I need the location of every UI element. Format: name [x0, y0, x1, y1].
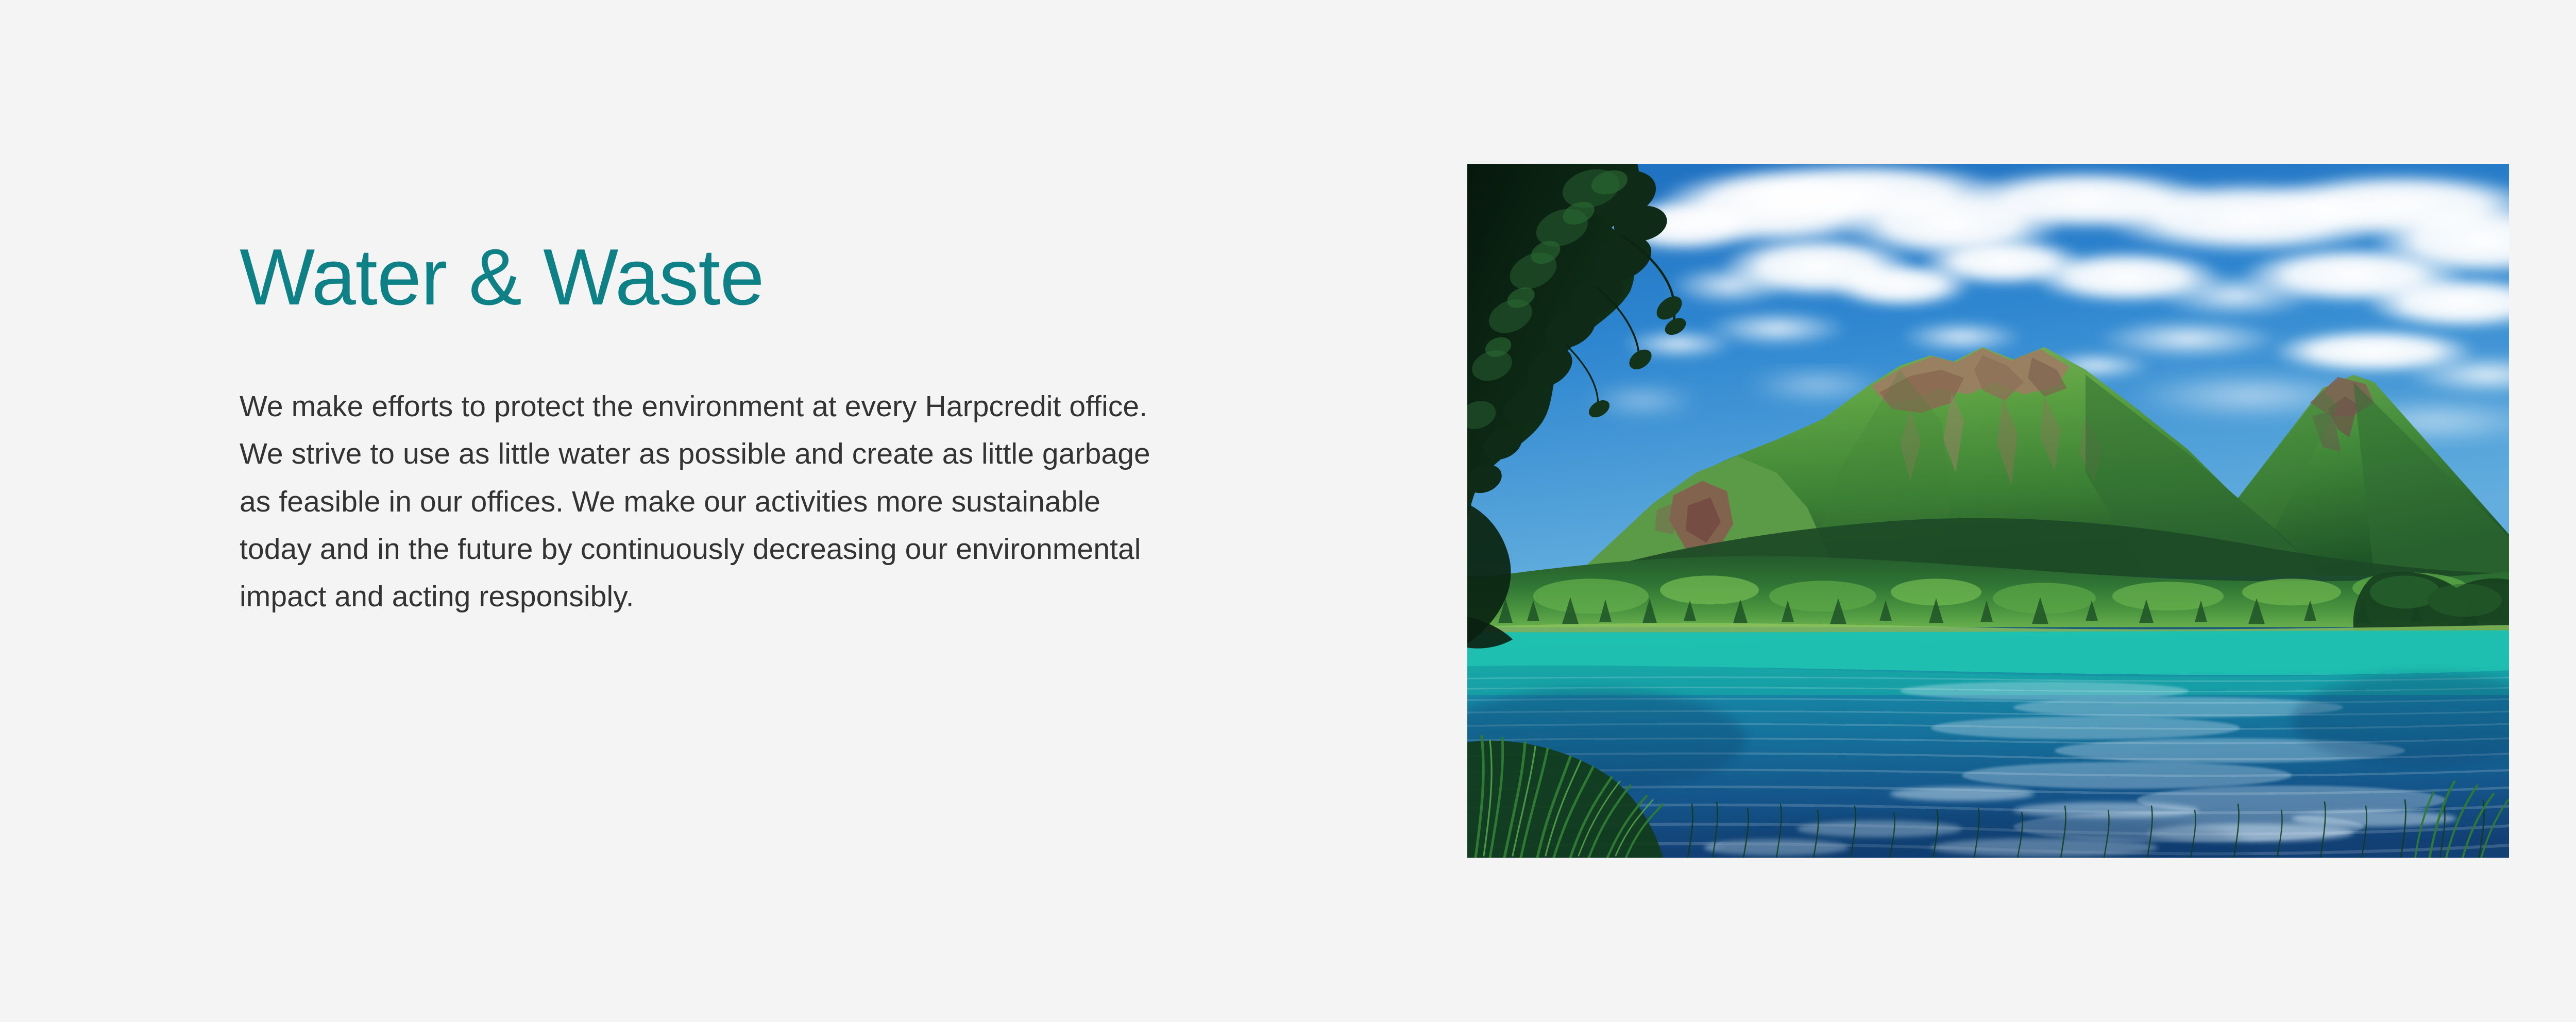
photo-illustration — [1467, 164, 2509, 858]
page-title: Water & Waste — [240, 237, 1208, 317]
page-root: Water & Waste We make efforts to protect… — [0, 0, 2576, 1022]
text-column: Water & Waste We make efforts to protect… — [240, 237, 1208, 621]
body-paragraph: We make efforts to protect the environme… — [240, 383, 1167, 621]
mountain-lake-photo — [1467, 164, 2509, 858]
